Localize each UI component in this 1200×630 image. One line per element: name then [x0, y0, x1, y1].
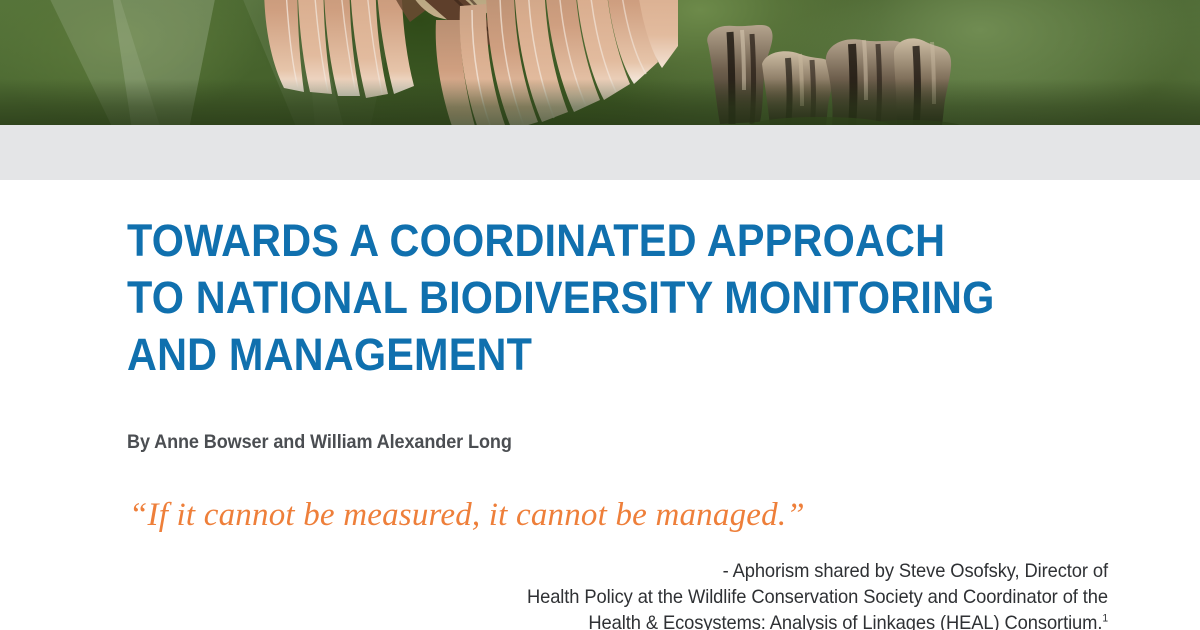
header-separator-band [0, 125, 1200, 180]
cover-content: TOWARDS A COORDINATED APPROACH TO NATION… [0, 180, 1200, 630]
author-byline: By Anne Bowser and William Alexander Lon… [127, 431, 512, 455]
quote-attribution-line-2: Health Policy at the Wildlife Conservati… [450, 584, 1108, 610]
quote-attribution-line-3: Health & Ecosystems: Analysis of Linkage… [450, 610, 1108, 630]
quote-attribution-line-3-text: Health & Ecosystems: Analysis of Linkage… [588, 612, 1102, 630]
page-title-line-1: TOWARDS A COORDINATED APPROACH [127, 212, 1038, 269]
pull-quote: “If it cannot be measured, it cannot be … [129, 495, 805, 535]
footnote-marker: 1 [1102, 613, 1108, 625]
hero-photo-foreground-shadow [0, 79, 1200, 125]
page-title-line-2: TO NATIONAL BIODIVERSITY MONITORING [127, 269, 1038, 326]
quote-attribution-line-1: - Aphorism shared by Steve Osofsky, Dire… [450, 558, 1108, 584]
quote-attribution: - Aphorism shared by Steve Osofsky, Dire… [450, 558, 1108, 630]
page-title-line-3: AND MANAGEMENT [127, 326, 1038, 383]
page-title: TOWARDS A COORDINATED APPROACH TO NATION… [127, 212, 1038, 383]
cover-page: TOWARDS A COORDINATED APPROACH TO NATION… [0, 0, 1200, 630]
hero-banner [0, 0, 1200, 125]
